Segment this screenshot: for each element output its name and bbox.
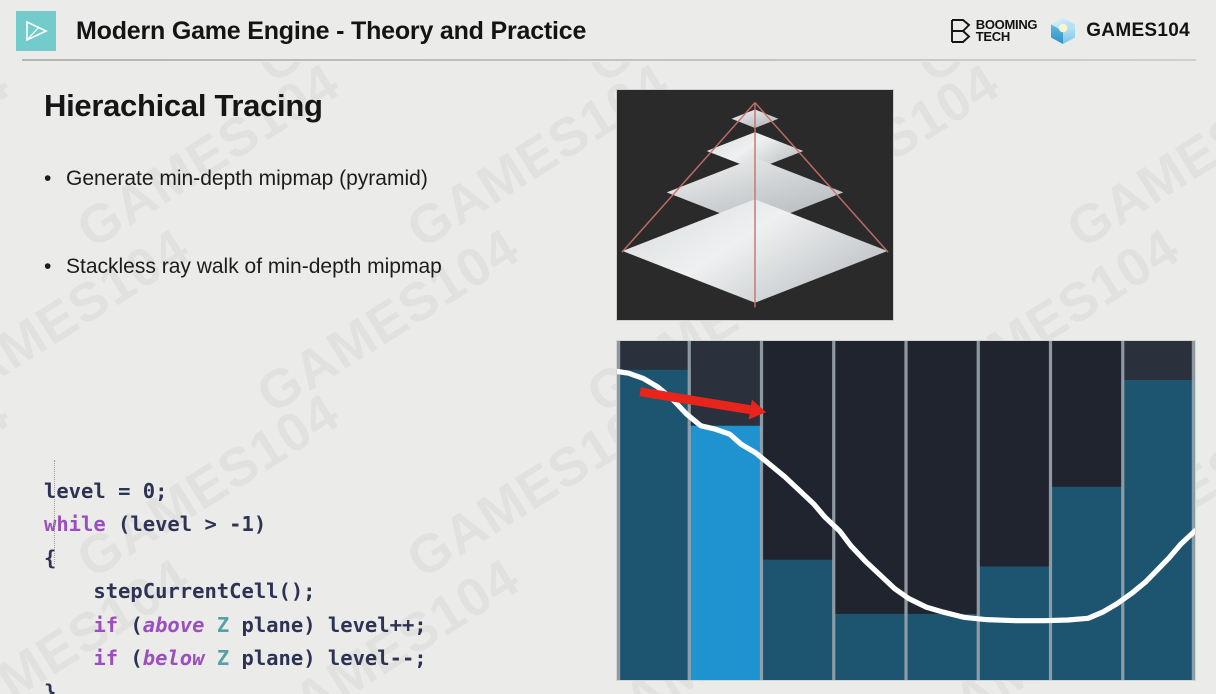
games104-cube-icon (1048, 16, 1078, 46)
code-lines: level = 0;while (level > -1){ stepCurren… (44, 475, 427, 694)
slide-title: Modern Game Engine - Theory and Practice (76, 17, 586, 46)
code-token: Z (217, 646, 229, 670)
list-item: • Stackless ray walk of min-depth mipmap (44, 254, 594, 280)
play-triangle-icon (23, 19, 49, 43)
brand-mark (16, 11, 56, 51)
cell-min-depth-fill (617, 370, 689, 680)
code-token: plane) level--; (229, 646, 426, 670)
watermark-text: GAMES104 (1056, 51, 1216, 261)
cell-min-depth-fill (1123, 380, 1195, 680)
code-token (204, 613, 216, 637)
code-token (44, 646, 93, 670)
booming-tech-logo: BOOMING TECH (949, 18, 1037, 44)
page-title: Hierachical Tracing (44, 88, 323, 124)
games104-wordmark: GAMES104 (1086, 20, 1190, 42)
code-line: if (below Z plane) level--; (44, 642, 427, 676)
code-token (44, 613, 93, 637)
code-token: level (44, 479, 118, 503)
code-token: (level > -1) (106, 512, 266, 536)
code-token: ( (118, 613, 143, 637)
bullet-text: Stackless ray walk of min-depth mipmap (66, 254, 442, 280)
code-token: if (93, 613, 118, 637)
code-token: if (93, 646, 118, 670)
code-line: } (44, 676, 427, 694)
bullet-marker: • (44, 254, 66, 280)
booming-tech-wordmark: BOOMING TECH (976, 19, 1037, 43)
games104-logo: GAMES104 (1048, 16, 1190, 46)
code-indent-guide (54, 460, 55, 564)
watermark-text: GAMES104 (0, 51, 20, 261)
header-divider (22, 59, 1196, 61)
code-line: { (44, 542, 427, 576)
code-line: if (above Z plane) level++; (44, 609, 427, 643)
code-token: plane) level++; (229, 613, 426, 637)
pyramid-diagram (617, 90, 893, 320)
code-token: Z (217, 613, 229, 637)
min-depth-cells-chart (616, 340, 1196, 681)
code-line: while (level > -1) (44, 508, 427, 542)
code-token (204, 646, 216, 670)
cell-min-depth-fill (834, 614, 906, 680)
header-logos: BOOMING TECH (949, 16, 1190, 46)
cell-min-depth-fill (1051, 487, 1123, 680)
code-token: ( (118, 646, 143, 670)
bullet-list: • Generate min-depth mipmap (pyramid) • … (44, 166, 594, 342)
depth-cells-diagram (617, 341, 1195, 680)
cell-min-depth-fill (762, 560, 834, 680)
code-token: below (143, 646, 205, 670)
code-line: level = 0; (44, 475, 427, 509)
watermark-text: GAMES104 (0, 381, 20, 591)
min-depth-pyramid-figure (616, 89, 894, 321)
bullet-marker: • (44, 166, 66, 192)
code-token: stepCurrentCell(); (44, 579, 316, 603)
booming-b-mark-icon (949, 18, 973, 44)
bullet-text: Generate min-depth mipmap (pyramid) (66, 166, 428, 192)
booming-tech-line2: TECH (976, 31, 1037, 43)
list-item: • Generate min-depth mipmap (pyramid) (44, 166, 594, 192)
cell-min-depth-fill (689, 426, 761, 680)
code-token: = 0; (118, 479, 167, 503)
code-block: level = 0;while (level > -1){ stepCurren… (44, 374, 427, 694)
code-token: above (143, 613, 205, 637)
slide-header: Modern Game Engine - Theory and Practice… (0, 0, 1216, 62)
cell-min-depth-fill (906, 614, 978, 680)
code-token: } (44, 680, 56, 694)
code-line: stepCurrentCell(); (44, 575, 427, 609)
